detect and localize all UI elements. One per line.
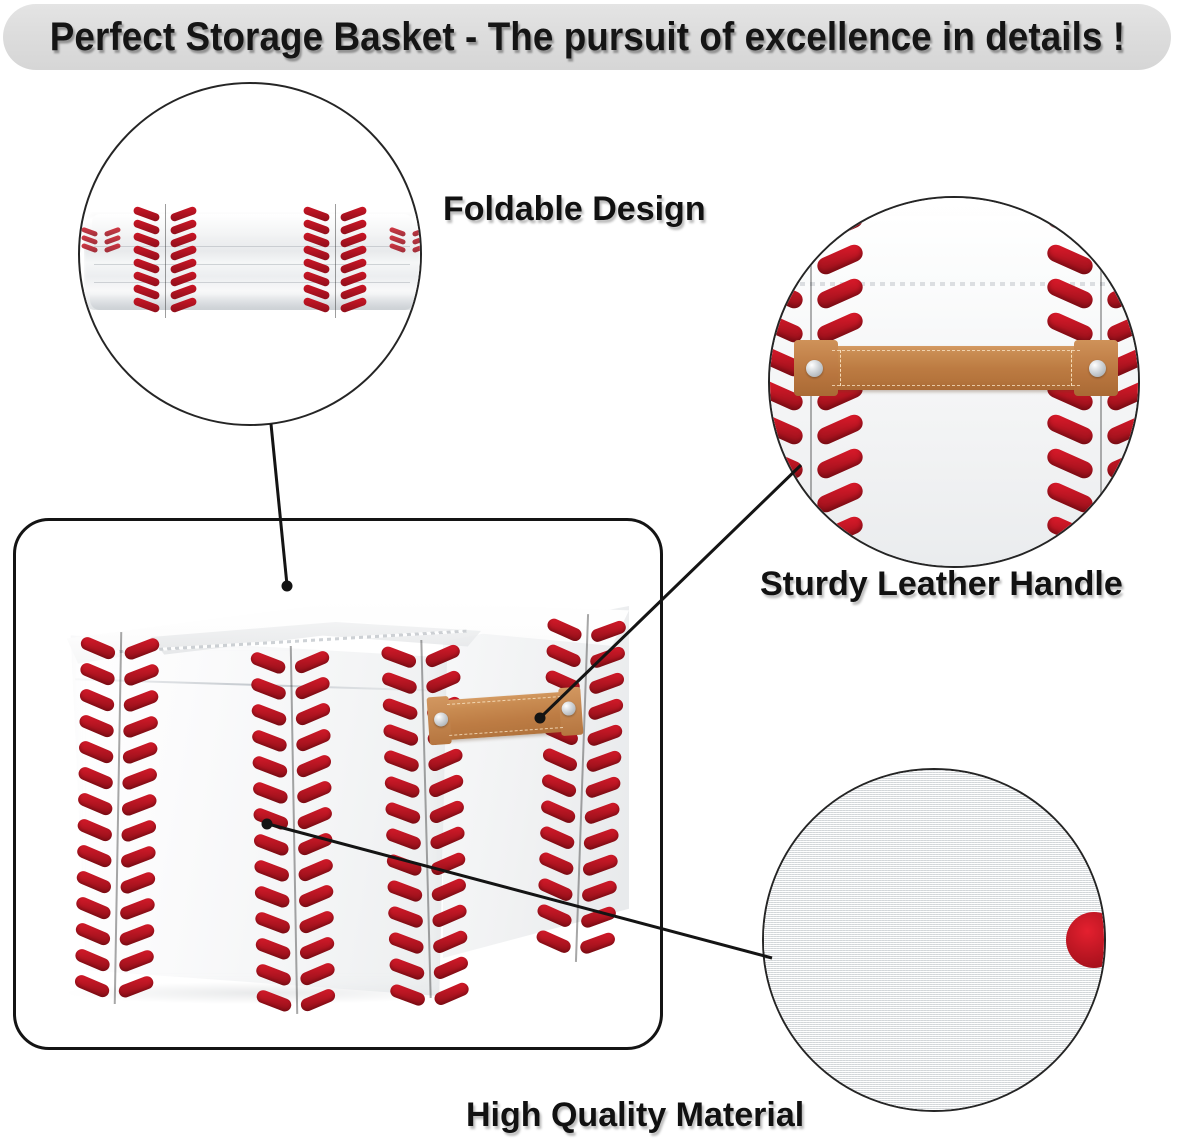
lace-column-2: [250, 645, 336, 1014]
callout-circle-foldable: [78, 82, 422, 426]
handle-seam: [1071, 350, 1072, 386]
canvas-fabric-icon: [764, 770, 1104, 1110]
handle-seam: [840, 350, 841, 386]
lace-column-4: [535, 613, 627, 964]
lace-column-1: [74, 631, 160, 1004]
callout-circle-material: [762, 768, 1106, 1112]
callout-label-material: High Quality Material: [466, 1096, 804, 1135]
lace-column-edge: [81, 226, 122, 297]
product-basket-image: [55, 588, 633, 1000]
callout-label-handle: Sturdy Leather Handle: [760, 565, 1123, 604]
callout-circle-handle: [768, 196, 1140, 568]
lace-column: [132, 204, 198, 318]
rivet-icon: [806, 360, 823, 377]
handle-edge-stitch: [832, 350, 1080, 351]
lace-column: [302, 204, 368, 318]
callout-label-foldable: Foldable Design: [443, 190, 706, 229]
rivet-icon: [1089, 360, 1106, 377]
lace-column-edge: [389, 226, 422, 297]
product-leather-handle: [445, 692, 566, 740]
infographic-canvas: Perfect Storage Basket - The pursuit of …: [0, 0, 1179, 1142]
handle-edge-stitch: [832, 385, 1080, 386]
lace-column-3: [380, 639, 469, 999]
leather-handle-icon: [830, 346, 1082, 390]
folded-basket-icon: [84, 212, 420, 310]
page-title: Perfect Storage Basket - The pursuit of …: [49, 17, 1124, 57]
header-banner: Perfect Storage Basket - The pursuit of …: [3, 4, 1171, 70]
